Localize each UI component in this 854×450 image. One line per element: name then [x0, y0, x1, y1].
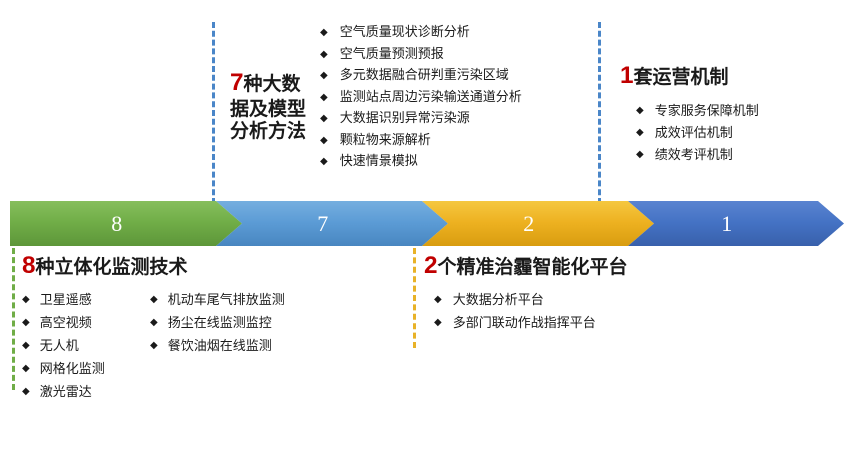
monitoring-right-item-3: 餐饮油烟在线监测: [168, 340, 272, 353]
chevron-number-2: 2: [523, 213, 535, 235]
chevron-process-bar: 8 7 2 1: [10, 201, 844, 246]
list-item[interactable]: ◆快速情景模拟: [320, 155, 522, 168]
list-item[interactable]: ◆扬尘在线监测监控: [150, 317, 360, 330]
monitoring-left-item-1: 卫星遥感: [40, 294, 92, 307]
monitoring-heading-number: 8: [22, 252, 36, 279]
list-item[interactable]: ◆网格化监测: [22, 363, 150, 376]
list-item[interactable]: ◆多部门联动作战指挥平台: [434, 317, 704, 330]
methods-heading-line-3: 分析方法: [230, 120, 306, 142]
methods-item-4: 监测站点周边污染输送通道分析: [340, 91, 522, 104]
diamond-bullet-icon: ◆: [636, 150, 644, 160]
operations-heading-text: 套运营机制: [634, 66, 729, 88]
monitoring-list-right: ◆机动车尾气排放监测 ◆扬尘在线监测监控 ◆餐饮油烟在线监测: [150, 294, 360, 409]
operations-heading: 1套运营机制: [620, 62, 845, 91]
diamond-bullet-icon: ◆: [434, 318, 442, 328]
diamond-bullet-icon: ◆: [22, 341, 30, 351]
list-item[interactable]: ◆专家服务保障机制: [636, 105, 845, 118]
methods-heading-line-2: 据及模型: [230, 98, 306, 120]
platform-heading-text: 个精准治霾智能化平台: [438, 256, 628, 278]
diamond-bullet-icon: ◆: [636, 106, 644, 116]
chevron-segment-7[interactable]: 7: [216, 201, 448, 246]
list-item[interactable]: ◆大数据识别异常污染源: [320, 112, 522, 125]
list-item[interactable]: ◆卫星遥感: [22, 294, 150, 307]
chevron-number-1: 1: [721, 213, 733, 235]
monitoring-list-left: ◆卫星遥感 ◆高空视频 ◆无人机 ◆网格化监测 ◆激光雷达: [22, 294, 150, 409]
diamond-bullet-icon: ◆: [22, 364, 30, 374]
methods-item-1: 空气质量现状诊断分析: [340, 26, 470, 39]
list-item[interactable]: ◆机动车尾气排放监测: [150, 294, 360, 307]
list-item[interactable]: ◆颗粒物来源解析: [320, 134, 522, 147]
diamond-bullet-icon: ◆: [150, 295, 158, 305]
diamond-bullet-icon: ◆: [22, 318, 30, 328]
list-item[interactable]: ◆激光雷达: [22, 386, 150, 399]
methods-heading: 7种大数 据及模型 分析方法: [230, 69, 306, 143]
methods-item-5: 大数据识别异常污染源: [340, 112, 470, 125]
methods-item-7: 快速情景模拟: [340, 155, 418, 168]
diamond-bullet-icon: ◆: [22, 387, 30, 397]
block-platform: 2个精准治霾智能化平台 ◆大数据分析平台 ◆多部门联动作战指挥平台: [424, 252, 704, 340]
list-item[interactable]: ◆大数据分析平台: [434, 294, 704, 307]
diamond-bullet-icon: ◆: [22, 295, 30, 305]
diagram-canvas: 8 7 2 1 7种大数 据及模型 分析方法 ◆空气质量现状诊断分析 ◆空气质量…: [0, 0, 854, 450]
connector-line-monitoring: [12, 248, 15, 390]
list-item[interactable]: ◆成效评估机制: [636, 127, 845, 140]
list-item[interactable]: ◆绩效考评机制: [636, 149, 845, 162]
diamond-bullet-icon: ◆: [320, 157, 328, 167]
diamond-bullet-icon: ◆: [320, 93, 328, 103]
operations-heading-number: 1: [620, 62, 634, 89]
platform-item-2: 多部门联动作战指挥平台: [453, 317, 596, 330]
platform-list: ◆大数据分析平台 ◆多部门联动作战指挥平台: [434, 294, 704, 330]
chevron-segment-8[interactable]: 8: [10, 201, 242, 246]
monitoring-heading-text: 种立体化监测技术: [36, 256, 188, 278]
list-item[interactable]: ◆空气质量预测预报: [320, 48, 522, 61]
diamond-bullet-icon: ◆: [320, 136, 328, 146]
monitoring-left-item-5: 激光雷达: [40, 386, 92, 399]
chevron-number-7: 7: [317, 213, 329, 235]
connector-line-platform: [413, 248, 416, 348]
platform-heading: 2个精准治霾智能化平台: [424, 252, 704, 281]
chevron-number-8: 8: [111, 213, 123, 235]
methods-item-6: 颗粒物来源解析: [340, 134, 431, 147]
list-item[interactable]: ◆多元数据融合研判重污染区域: [320, 69, 522, 82]
connector-line-methods: [212, 22, 215, 204]
methods-list: ◆空气质量现状诊断分析 ◆空气质量预测预报 ◆多元数据融合研判重污染区域 ◆监测…: [320, 26, 522, 177]
diamond-bullet-icon: ◆: [320, 71, 328, 81]
monitoring-left-item-4: 网格化监测: [40, 363, 105, 376]
monitoring-right-item-1: 机动车尾气排放监测: [168, 294, 285, 307]
connector-line-operations: [598, 22, 601, 204]
platform-heading-number: 2: [424, 252, 438, 279]
platform-item-1: 大数据分析平台: [453, 294, 544, 307]
block-monitoring: 8种立体化监测技术 ◆卫星遥感 ◆高空视频 ◆无人机 ◆网格化监测 ◆激光雷达 …: [22, 252, 382, 409]
list-item[interactable]: ◆监测站点周边污染输送通道分析: [320, 91, 522, 104]
list-item[interactable]: ◆高空视频: [22, 317, 150, 330]
methods-item-3: 多元数据融合研判重污染区域: [340, 69, 509, 82]
chevron-segment-2[interactable]: 2: [422, 201, 654, 246]
diamond-bullet-icon: ◆: [320, 50, 328, 60]
monitoring-left-item-3: 无人机: [40, 340, 79, 353]
operations-item-3: 绩效考评机制: [655, 149, 733, 162]
diamond-bullet-icon: ◆: [320, 114, 328, 124]
diamond-bullet-icon: ◆: [150, 341, 158, 351]
monitoring-columns: ◆卫星遥感 ◆高空视频 ◆无人机 ◆网格化监测 ◆激光雷达 ◆机动车尾气排放监测…: [22, 294, 382, 409]
list-item[interactable]: ◆空气质量现状诊断分析: [320, 26, 522, 39]
monitoring-left-item-2: 高空视频: [40, 317, 92, 330]
monitoring-right-item-2: 扬尘在线监测监控: [168, 317, 272, 330]
diamond-bullet-icon: ◆: [434, 295, 442, 305]
methods-item-2: 空气质量预测预报: [340, 48, 444, 61]
operations-item-1: 专家服务保障机制: [655, 105, 759, 118]
diamond-bullet-icon: ◆: [636, 128, 644, 138]
diamond-bullet-icon: ◆: [320, 28, 328, 38]
diamond-bullet-icon: ◆: [150, 318, 158, 328]
chevron-segment-1[interactable]: 1: [628, 201, 844, 246]
methods-heading-line-1: 种大数: [244, 73, 301, 95]
monitoring-heading: 8种立体化监测技术: [22, 252, 382, 281]
methods-heading-number: 7: [230, 69, 244, 96]
operations-item-2: 成效评估机制: [655, 127, 733, 140]
list-item[interactable]: ◆无人机: [22, 340, 150, 353]
list-item[interactable]: ◆餐饮油烟在线监测: [150, 340, 360, 353]
operations-list: ◆专家服务保障机制 ◆成效评估机制 ◆绩效考评机制: [636, 105, 845, 162]
block-operations: 1套运营机制 ◆专家服务保障机制 ◆成效评估机制 ◆绩效考评机制: [620, 62, 845, 171]
